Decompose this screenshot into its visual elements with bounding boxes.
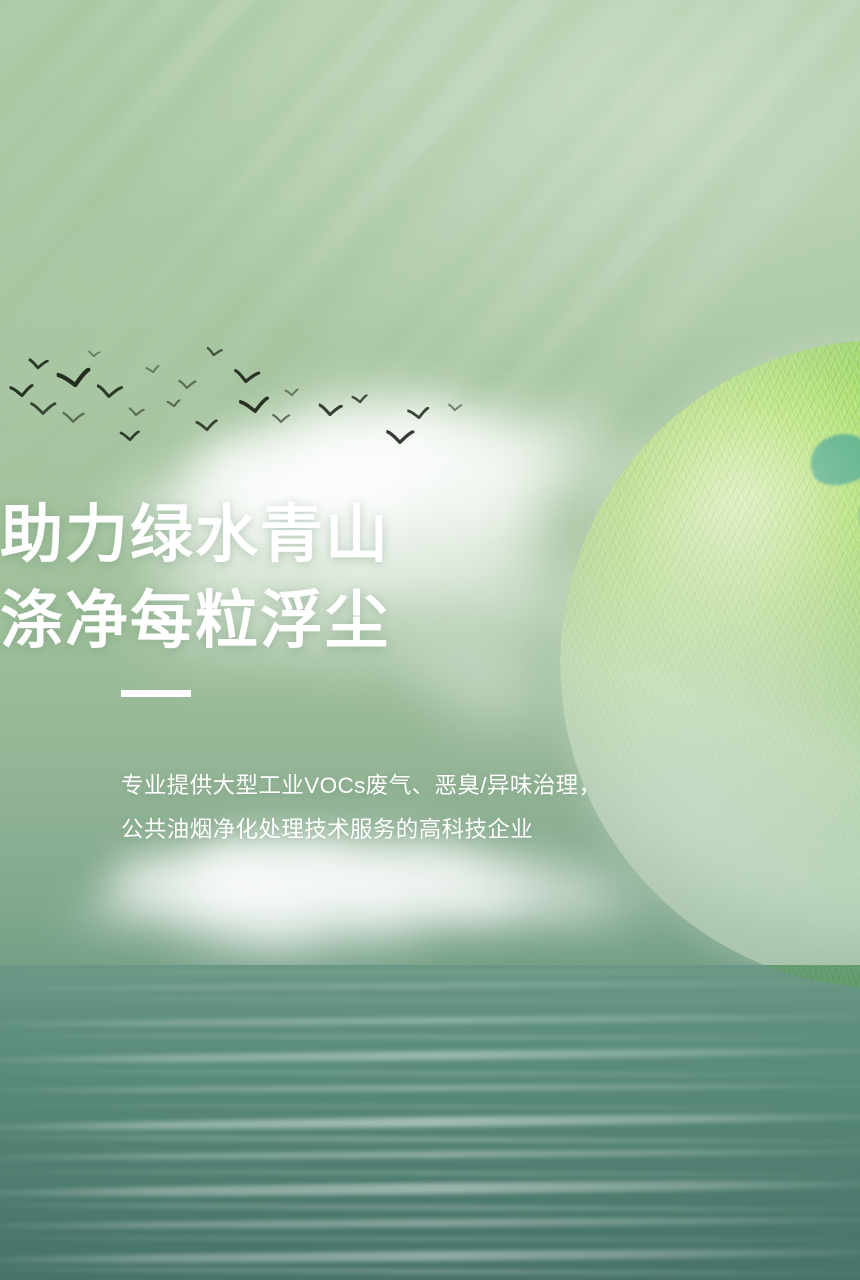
hero-poster: 助力绿水青山 涤净每粒浮尘 专业提供大型工业VOCs废气、恶臭/异味治理， 公共… bbox=[0, 0, 860, 1280]
water-surface bbox=[0, 965, 860, 1280]
subtitle-line-1: 专业提供大型工业VOCs废气、恶臭/异味治理， bbox=[121, 764, 601, 808]
headline-line-1: 助力绿水青山 bbox=[0, 492, 390, 578]
title-underline bbox=[121, 690, 191, 697]
page-title: 助力绿水青山 涤净每粒浮尘 bbox=[0, 492, 390, 664]
subtitle-line-2: 公共油烟净化处理技术服务的高科技企业 bbox=[121, 808, 601, 852]
water-haze bbox=[0, 965, 860, 1280]
page-subtitle: 专业提供大型工业VOCs废气、恶臭/异味治理， 公共油烟净化处理技术服务的高科技… bbox=[121, 764, 601, 852]
headline-line-2: 涤净每粒浮尘 bbox=[0, 578, 390, 664]
